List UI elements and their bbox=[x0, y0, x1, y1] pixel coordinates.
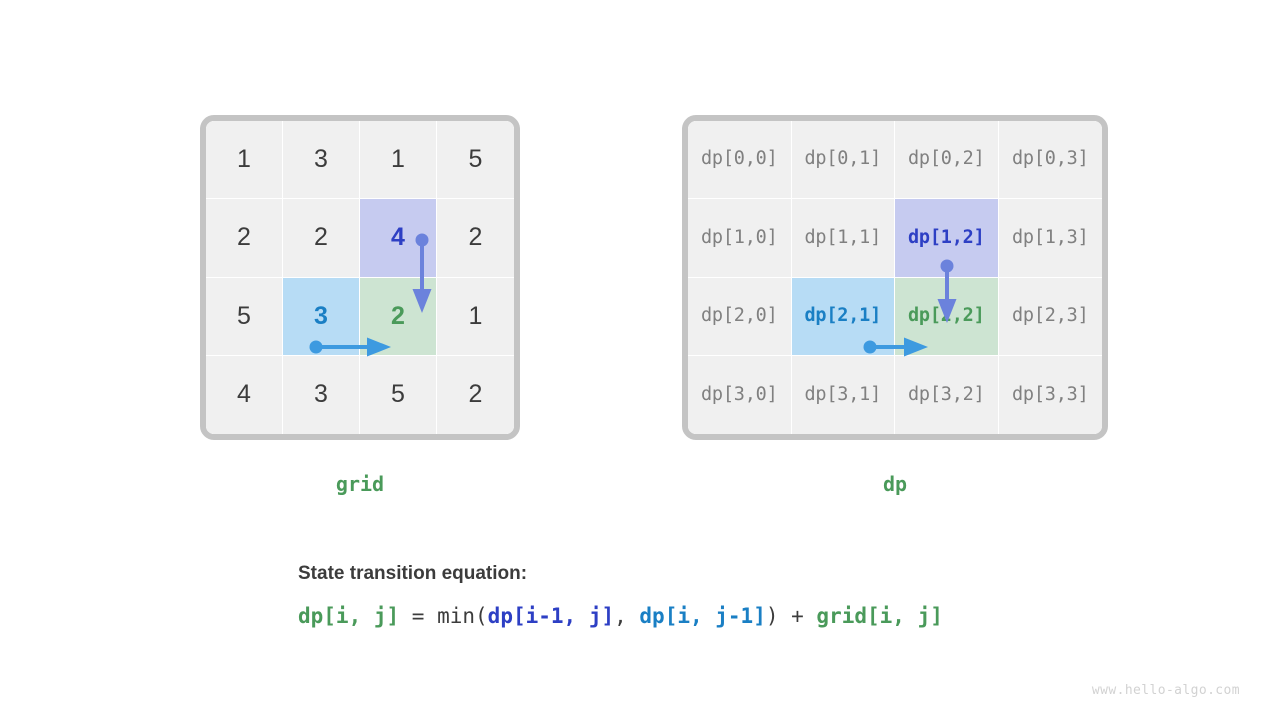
grid-cell-2-3: 1 bbox=[437, 278, 514, 356]
grid-cell-label: 3 bbox=[314, 382, 328, 407]
dp-cell-1-3: dp[1,3] bbox=[999, 199, 1103, 277]
dp-cell-0-2: dp[0,2] bbox=[895, 121, 999, 199]
grid-cell-label: 3 bbox=[314, 147, 328, 172]
grid-cell-1-0: 2 bbox=[206, 199, 283, 277]
equation-token-5: ) + bbox=[766, 604, 817, 628]
dp-cell-label: dp[0,3] bbox=[1012, 150, 1089, 169]
grid-cell-0-3: 5 bbox=[437, 121, 514, 199]
dp-cell-label: dp[0,2] bbox=[908, 150, 985, 169]
state-transition-equation: dp[i, j] = min(dp[i-1, j], dp[i, j-1]) +… bbox=[298, 606, 943, 627]
grid-cell-0-2: 1 bbox=[360, 121, 437, 199]
grid-matrix-cells: 1315224253214352 bbox=[206, 121, 514, 434]
equation-token-4: dp[i, j-1] bbox=[639, 604, 765, 628]
grid-cell-1-1: 2 bbox=[283, 199, 360, 277]
grid-cell-1-2: 4 bbox=[360, 199, 437, 277]
grid-cell-label: 2 bbox=[391, 304, 405, 329]
dp-matrix-panel: dp[0,0]dp[0,1]dp[0,2]dp[0,3]dp[1,0]dp[1,… bbox=[682, 115, 1108, 440]
dp-cell-2-3: dp[2,3] bbox=[999, 278, 1103, 356]
dp-caption: dp bbox=[682, 472, 1108, 496]
grid-matrix-panel: 1315224253214352 bbox=[200, 115, 520, 440]
grid-cell-3-1: 3 bbox=[283, 356, 360, 434]
dp-cell-3-3: dp[3,3] bbox=[999, 356, 1103, 434]
dp-cell-label: dp[1,0] bbox=[701, 229, 778, 248]
dp-cell-label: dp[0,0] bbox=[701, 150, 778, 169]
grid-cell-label: 1 bbox=[391, 147, 405, 172]
dp-cell-2-2: dp[2,2] bbox=[895, 278, 999, 356]
grid-cell-label: 2 bbox=[469, 382, 483, 407]
grid-cell-3-0: 4 bbox=[206, 356, 283, 434]
grid-cell-label: 5 bbox=[469, 147, 483, 172]
dp-cell-label: dp[2,0] bbox=[701, 307, 778, 326]
state-transition-equation-title: State transition equation: bbox=[298, 563, 527, 585]
grid-cell-label: 4 bbox=[391, 225, 405, 250]
dp-cell-3-0: dp[3,0] bbox=[688, 356, 792, 434]
grid-caption: grid bbox=[200, 472, 520, 496]
dp-cell-label: dp[3,1] bbox=[804, 386, 881, 405]
grid-cell-label: 3 bbox=[314, 304, 328, 329]
equation-token-3: , bbox=[614, 604, 639, 628]
dp-cell-label: dp[3,3] bbox=[1012, 386, 1089, 405]
grid-cell-0-0: 1 bbox=[206, 121, 283, 199]
dp-cell-0-3: dp[0,3] bbox=[999, 121, 1103, 199]
equation-token-2: dp[i-1, j] bbox=[488, 604, 614, 628]
dp-cell-label: dp[0,1] bbox=[804, 150, 881, 169]
dp-cell-0-0: dp[0,0] bbox=[688, 121, 792, 199]
grid-cell-label: 1 bbox=[237, 147, 251, 172]
grid-cell-3-3: 2 bbox=[437, 356, 514, 434]
dp-cell-2-1: dp[2,1] bbox=[792, 278, 896, 356]
grid-cell-2-2: 2 bbox=[360, 278, 437, 356]
dp-cell-1-2: dp[1,2] bbox=[895, 199, 999, 277]
equation-token-1: = min( bbox=[399, 604, 488, 628]
dp-cell-0-1: dp[0,1] bbox=[792, 121, 896, 199]
dp-matrix-cells: dp[0,0]dp[0,1]dp[0,2]dp[0,3]dp[1,0]dp[1,… bbox=[688, 121, 1102, 434]
dp-cell-2-0: dp[2,0] bbox=[688, 278, 792, 356]
equation-token-6: grid[i, j] bbox=[816, 604, 942, 628]
grid-cell-label: 2 bbox=[314, 225, 328, 250]
grid-cell-label: 5 bbox=[391, 382, 405, 407]
dp-cell-label: dp[2,2] bbox=[908, 307, 985, 326]
figure-canvas: 1315224253214352 grid dp[0,0]dp[0,1]dp[0… bbox=[0, 0, 1280, 720]
dp-cell-label: dp[3,0] bbox=[701, 386, 778, 405]
grid-cell-label: 2 bbox=[237, 225, 251, 250]
dp-cell-label: dp[2,1] bbox=[804, 307, 881, 326]
grid-cell-label: 2 bbox=[469, 225, 483, 250]
grid-cell-label: 5 bbox=[237, 304, 251, 329]
dp-cell-label: dp[1,3] bbox=[1012, 229, 1089, 248]
site-watermark: www.hello-algo.com bbox=[1092, 683, 1240, 698]
dp-cell-3-1: dp[3,1] bbox=[792, 356, 896, 434]
grid-cell-label: 1 bbox=[469, 304, 483, 329]
equation-token-0: dp[i, j] bbox=[298, 604, 399, 628]
dp-cell-label: dp[2,3] bbox=[1012, 307, 1089, 326]
grid-cell-0-1: 3 bbox=[283, 121, 360, 199]
grid-cell-2-0: 5 bbox=[206, 278, 283, 356]
dp-cell-1-0: dp[1,0] bbox=[688, 199, 792, 277]
dp-cell-label: dp[3,2] bbox=[908, 386, 985, 405]
grid-cell-3-2: 5 bbox=[360, 356, 437, 434]
dp-cell-1-1: dp[1,1] bbox=[792, 199, 896, 277]
grid-cell-1-3: 2 bbox=[437, 199, 514, 277]
grid-cell-label: 4 bbox=[237, 382, 251, 407]
dp-cell-label: dp[1,2] bbox=[908, 229, 985, 248]
dp-cell-3-2: dp[3,2] bbox=[895, 356, 999, 434]
dp-cell-label: dp[1,1] bbox=[804, 229, 881, 248]
grid-cell-2-1: 3 bbox=[283, 278, 360, 356]
